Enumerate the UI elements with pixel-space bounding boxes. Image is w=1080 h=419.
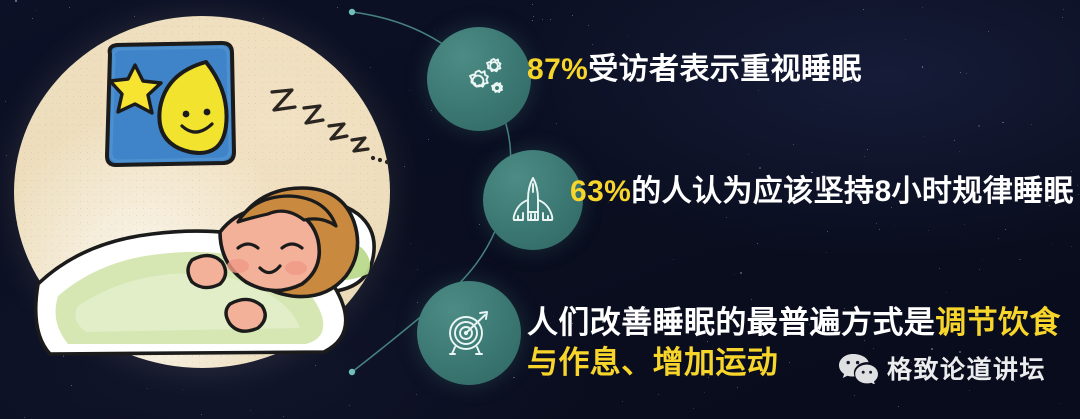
stat-2-icon-bubble[interactable] — [483, 150, 583, 250]
night-window-icon — [102, 40, 237, 168]
stat-2-text: 63%的人认为应该坚持8小时规律睡眠 — [570, 166, 1074, 210]
stat-3-icon-bubble[interactable] — [417, 281, 521, 385]
stat-1-icon-bubble[interactable] — [427, 27, 531, 131]
stat-1-label: 受访者表示重视睡眠 — [588, 53, 862, 86]
wechat-account-name: 格致论道讲坛 — [887, 350, 1046, 386]
stat-1-number: 87% — [527, 53, 588, 86]
infographic-canvas: 87%受访者表示重视睡眠 63%的人认为应该坚持8小时规律睡眠 人们改善睡眠的最… — [0, 0, 1080, 419]
stat-2-number: 63% — [570, 175, 631, 208]
stat-1-text: 87%受访者表示重视睡眠 — [527, 44, 862, 88]
wechat-icon — [838, 352, 878, 384]
rocket-icon — [505, 172, 561, 228]
stat-3-lead: 人们改善睡眠的最普遍方式是 — [527, 305, 935, 340]
wechat-watermark: 格致论道讲坛 — [838, 350, 1046, 386]
stat-2-label: 的人认为应该坚持8小时规律睡眠 — [631, 175, 1074, 208]
gears-icon — [450, 50, 508, 108]
target-icon — [440, 304, 498, 362]
